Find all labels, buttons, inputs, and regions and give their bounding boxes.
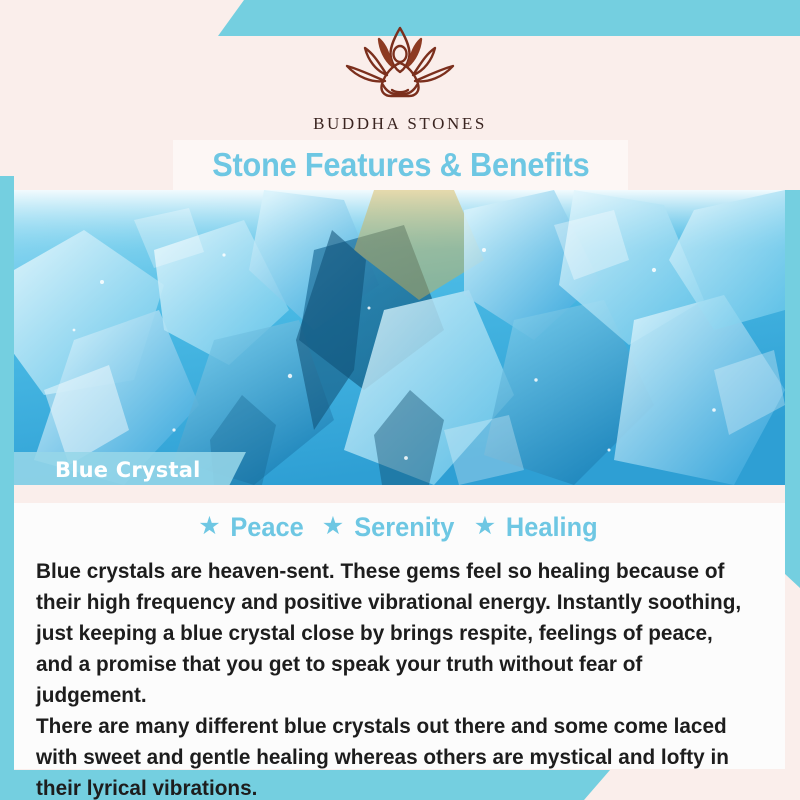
keyword-healing: ★ Healing (474, 512, 601, 543)
star-icon: ★ (198, 514, 220, 539)
blue-crystal-photo (14, 190, 785, 485)
keyword-label: Serenity (354, 512, 454, 543)
body-paragraph-2: There are many different blue crystals o… (36, 711, 752, 800)
content-top-cream-strip (14, 485, 785, 503)
keyword-label: Healing (506, 512, 598, 543)
keyword-label: Peace (230, 512, 303, 543)
crystal-illustration (14, 190, 785, 485)
body-copy: Blue crystals are heaven-sent. These gem… (36, 556, 752, 800)
star-icon: ★ (322, 514, 344, 539)
keyword-peace: ★ Peace (198, 512, 306, 543)
page-title-bar: Stone Features & Benefits (173, 140, 628, 190)
star-icon: ★ (474, 514, 496, 539)
keyword-serenity: ★ Serenity (322, 512, 458, 543)
page-title: Stone Features & Benefits (212, 146, 589, 184)
stone-name-label: Blue Crystal (55, 458, 200, 482)
brand-logo: BUDDHA STONES (313, 22, 487, 134)
decor-left-cyan-border (0, 176, 14, 800)
lotus-meditation-icon (335, 22, 465, 110)
brand-name: BUDDHA STONES (313, 114, 487, 134)
decor-right-cyan-border (785, 190, 800, 588)
stone-features-card: BUDDHA STONES Stone Features & Benefits (0, 0, 800, 800)
stone-name-banner: Blue Crystal (14, 452, 246, 488)
keyword-list: ★ Peace ★ Serenity ★ Healing (14, 512, 785, 543)
body-paragraph-1: Blue crystals are heaven-sent. These gem… (36, 556, 752, 711)
bottom-cream-divider (14, 769, 785, 770)
